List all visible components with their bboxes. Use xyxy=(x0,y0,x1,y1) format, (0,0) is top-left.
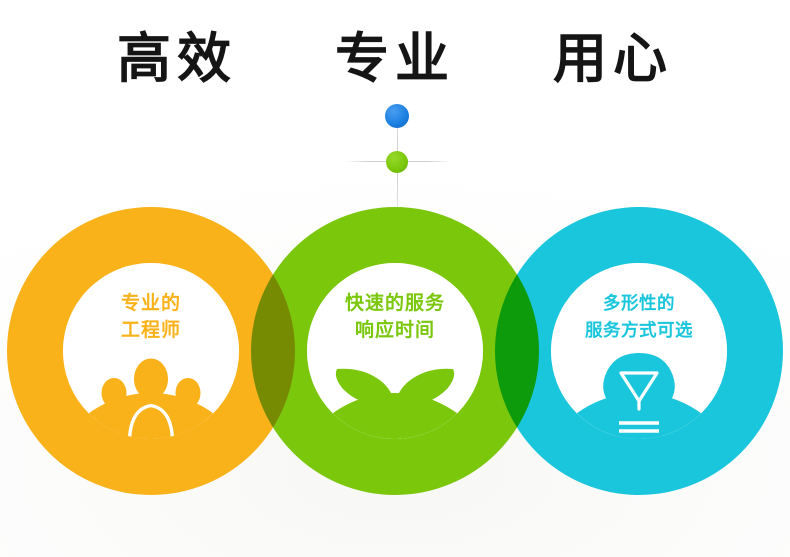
circle-card-engineers[interactable]: 专业的 工程师 xyxy=(63,263,239,439)
circle-label-service-modes: 多形性的 服务方式可选 xyxy=(551,290,727,344)
label-line: 工程师 xyxy=(63,317,239,344)
poster-canvas: 高效 专业 用心 专业的 工程师 xyxy=(0,0,790,557)
label-line: 响应时间 xyxy=(307,317,483,344)
circle-card-service-modes[interactable]: 多形性的 服务方式可选 xyxy=(551,263,727,439)
people-group-icon xyxy=(63,349,239,439)
circle-label-engineers: 专业的 工程师 xyxy=(63,290,239,344)
sprout-leaf-icon xyxy=(307,349,483,439)
label-line: 专业的 xyxy=(63,290,239,317)
lightbulb-icon xyxy=(551,349,727,439)
label-line: 快速的服务 xyxy=(307,290,483,317)
circle-label-response-time: 快速的服务 响应时间 xyxy=(307,290,483,344)
label-line: 服务方式可选 xyxy=(551,317,727,344)
label-line: 多形性的 xyxy=(551,290,727,317)
circle-card-response-time[interactable]: 快速的服务 响应时间 xyxy=(307,263,483,439)
